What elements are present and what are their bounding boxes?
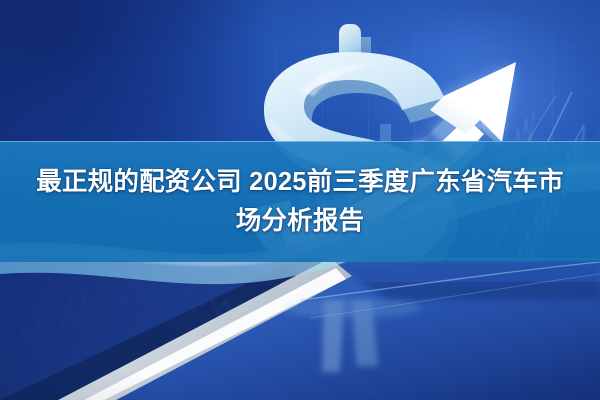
page-title-line-1: 最正规的配资公司 2025前三季度广东省汽车市 xyxy=(36,166,563,199)
cover-image: 最正规的配资公司 2025前三季度广东省汽车市 场分析报告 xyxy=(0,0,600,400)
page-title: 最正规的配资公司 2025前三季度广东省汽车市 场分析报告 xyxy=(0,141,600,262)
page-title-line-2: 场分析报告 xyxy=(236,205,365,238)
